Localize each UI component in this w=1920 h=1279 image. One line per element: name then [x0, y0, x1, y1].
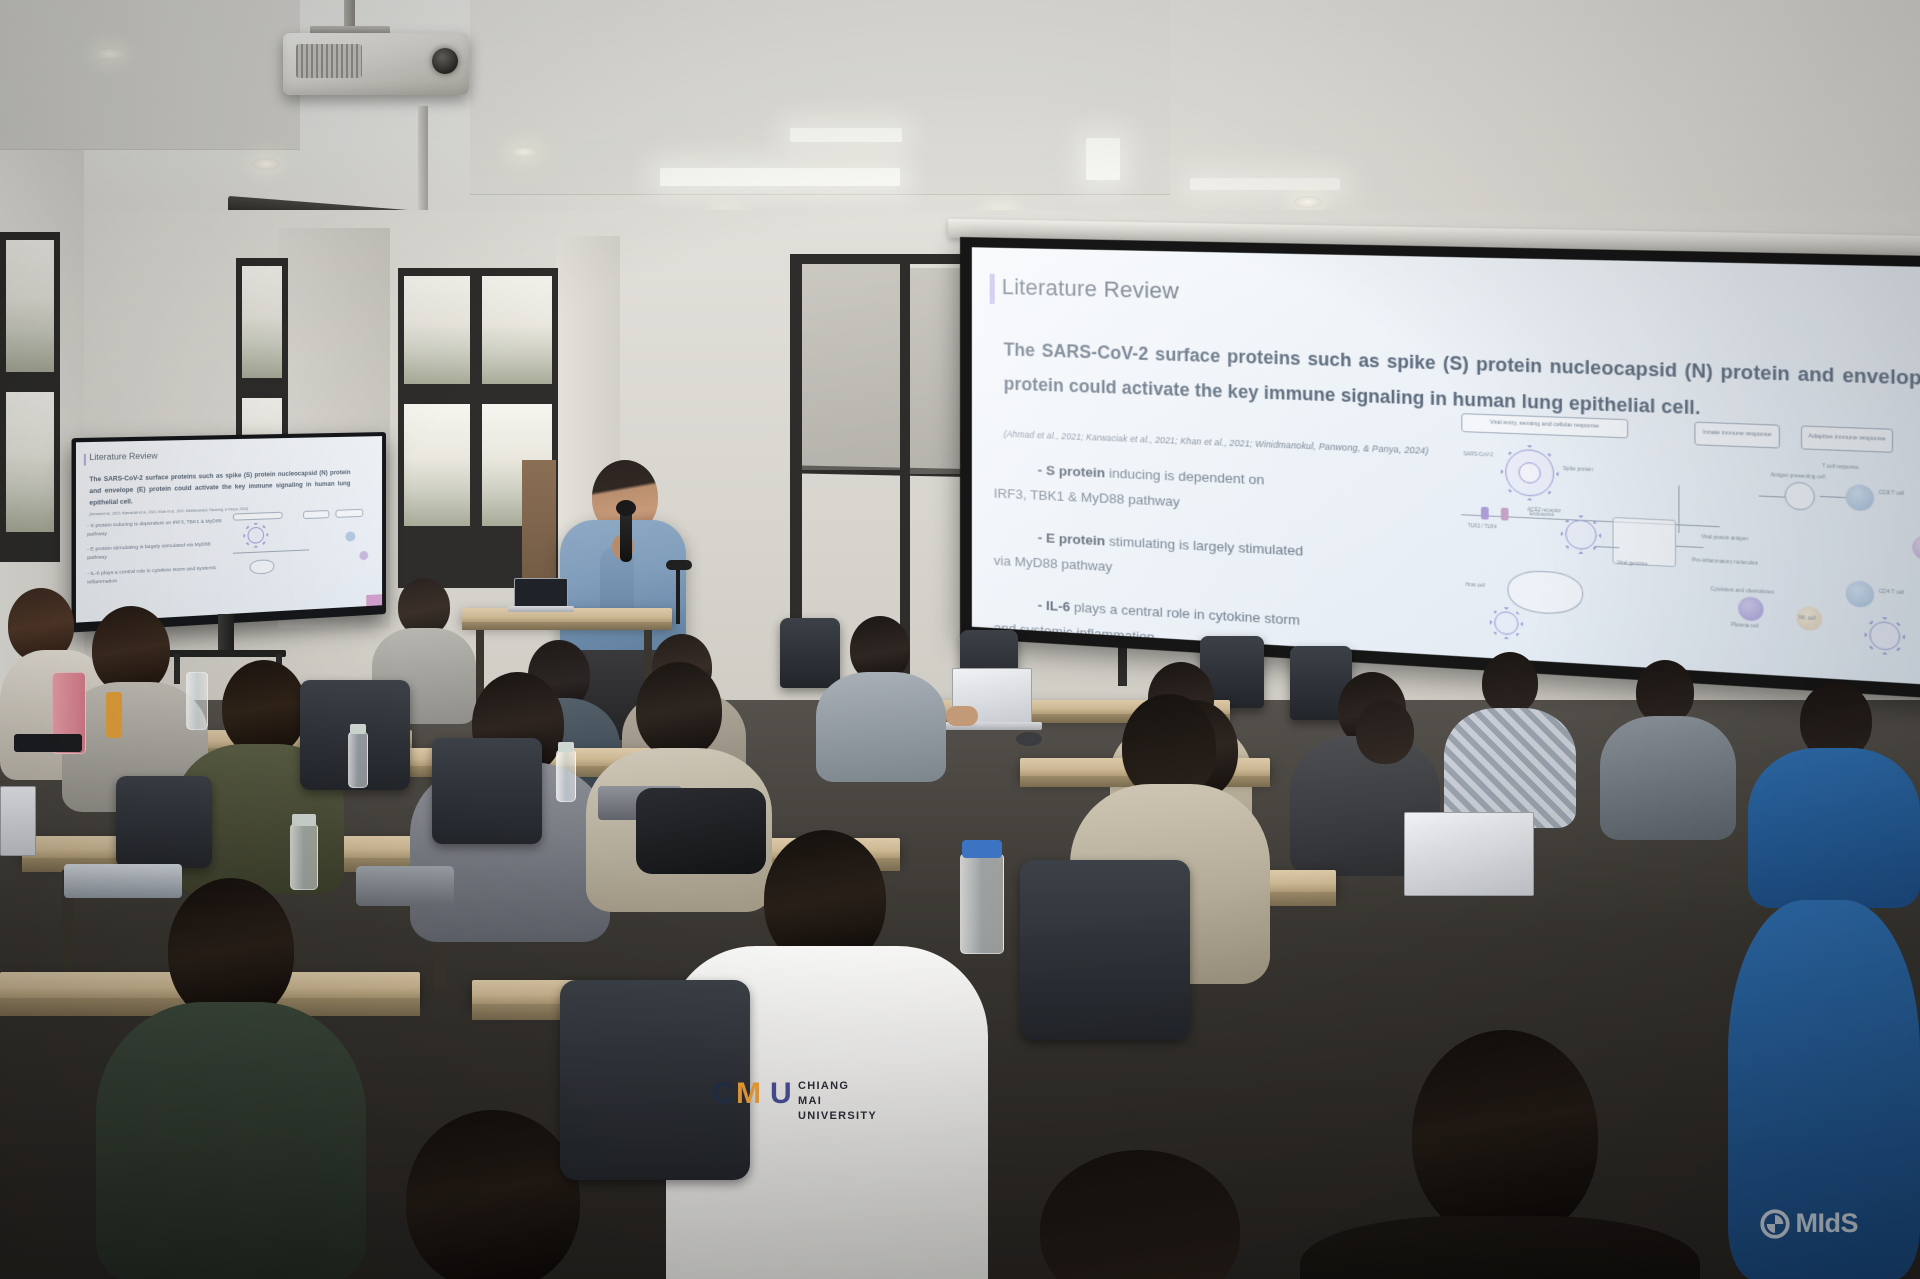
audience-head-b5 — [636, 662, 722, 758]
water-bottle-5 — [186, 672, 208, 730]
lunch-box-2 — [356, 866, 454, 906]
downlight-3 — [510, 146, 538, 158]
bullet-3-rest: plays a central role in cytokine storm — [1070, 599, 1300, 628]
bullet-1-lead: - S protein — [1038, 462, 1105, 480]
audience-torso-a4 — [816, 672, 946, 782]
audience-head-a7 — [1356, 700, 1414, 764]
diagram-bcell — [1912, 535, 1920, 560]
edge-laptop — [1404, 812, 1534, 896]
foreground-chair-2 — [1020, 860, 1190, 1040]
mic-stand-head — [666, 560, 692, 570]
cmu-shirt-logo: C M U CHIANG MAI UNIVERSITY — [712, 1075, 872, 1117]
water-bottle-4 — [960, 854, 1004, 954]
tv-diagram-bcell — [359, 551, 368, 560]
diagram-label-sars: SARS-CoV-2 — [1463, 451, 1492, 458]
diagram-virion-2 — [1494, 611, 1518, 636]
mids-watermark: MIdS — [1760, 1208, 1859, 1239]
audience-head-b3 — [222, 660, 306, 756]
ceiling-recess-left — [0, 0, 300, 150]
audience-torso-a8 — [1444, 708, 1576, 828]
diagram-label-apc: Antigen presenting cell — [1771, 472, 1825, 481]
bullet-2-rest: stimulating is largely stimulated — [1105, 533, 1303, 558]
downlight-6 — [1294, 196, 1322, 208]
presentation-slide: Literature Review The SARS-CoV-2 surface… — [972, 247, 1920, 689]
phone-on-desk — [14, 734, 82, 752]
diagram-label-tcell-response: T cell response — [1822, 463, 1859, 471]
tv-bullet-list: - S protein inducing is dependent on IRF… — [87, 518, 227, 594]
audience-head-b2 — [92, 606, 170, 694]
tv-accent-bar — [84, 454, 86, 466]
cmu-wordmark: CHIANG MAI UNIVERSITY — [798, 1079, 877, 1124]
tv-slide-number-badge — [366, 594, 382, 606]
tablet-device — [64, 864, 182, 898]
slide-bullet-1: - S protein inducing is dependent on IRF… — [994, 456, 1453, 528]
window-glass-c2 — [482, 276, 552, 384]
diagram-label-proinflam: Pro-inflammatory molecules — [1692, 557, 1758, 567]
ceiling-recess-mid — [470, 0, 1170, 195]
diagram-label-antigen: Viral protein antigen — [1701, 534, 1748, 543]
ceiling-recess-right — [1170, 0, 1920, 225]
diagram-arrow-5 — [1678, 486, 1679, 533]
diagram-receptor-tlr — [1501, 508, 1509, 521]
water-bottle-1 — [348, 732, 368, 788]
immune-pathway-diagram: Viral entry, sensing and cellular respon… — [1461, 413, 1920, 668]
tv-bullet-2: - E protein stimulating is largely stimu… — [87, 541, 227, 564]
presenter-mic-head — [616, 500, 636, 516]
diagram-label-endosome: Endosome — [1530, 511, 1554, 518]
empty-chair-1 — [780, 618, 840, 688]
mids-label: MIdS — [1796, 1208, 1859, 1239]
lecture-hall-photo: VERTEX Literature Review The SARS-CoV-2 … — [0, 0, 1920, 1279]
water-bottle-3 — [290, 824, 318, 890]
window-glass-a2 — [6, 392, 54, 532]
diagram-arrow-2 — [1676, 546, 1703, 548]
mic-stand — [676, 566, 680, 624]
diagram-label-spike: Spike protein — [1563, 466, 1593, 474]
bullet-3-lead: - IL-6 — [1038, 597, 1070, 614]
foreground-head-c5 — [406, 1110, 580, 1279]
tv-screen: Literature Review The SARS-CoV-2 surface… — [76, 436, 382, 623]
tv-slide-heading: The SARS-CoV-2 surface proteins such as … — [89, 468, 350, 510]
diagram-plasma-cell — [1738, 596, 1764, 621]
tv-diagram-virion — [247, 527, 264, 544]
diagram-box-innate: Innate immune response — [1694, 422, 1780, 449]
wall-tv-monitor: Literature Review The SARS-CoV-2 surface… — [72, 432, 386, 632]
partition-glass-1 — [802, 264, 900, 470]
cmu-wordmark-line1: CHIANG MAI — [798, 1080, 849, 1107]
tv-diagram — [233, 508, 382, 588]
cmu-wordmark-line2: UNIVERSITY — [798, 1110, 877, 1122]
diagram-label-nk: NK cell — [1799, 615, 1816, 622]
window-glass-c1 — [404, 276, 470, 384]
aperture-icon — [1760, 1209, 1790, 1239]
diagram-receptor-ace2 — [1481, 507, 1489, 520]
diagram-host-cell — [1507, 569, 1583, 616]
audience-head-a8 — [1482, 652, 1538, 714]
presenter-table-edge — [462, 622, 672, 630]
bullet-1-rest: inducing is dependent on — [1105, 465, 1264, 487]
pen-holder — [106, 692, 122, 738]
foreground-head-c1 — [168, 878, 294, 1022]
ceiling-light-2 — [790, 128, 902, 142]
ceiling-pipe — [418, 106, 428, 224]
water-bottle-2-cap — [558, 742, 574, 752]
window-glass-c3 — [404, 404, 470, 526]
diagram-cd8-tcell — [1846, 484, 1874, 512]
ceiling-light-4 — [1190, 178, 1340, 190]
diagram-label-cytokines: Cytokines and chemokines — [1710, 586, 1774, 596]
water-bottle-4-cap — [962, 840, 1002, 858]
slide-title: Literature Review — [1002, 274, 1179, 305]
edge-laptop-2 — [0, 786, 36, 856]
laptop-mouse — [1016, 732, 1042, 746]
diagram-cd4-tcell — [1846, 580, 1874, 608]
tv-diagram-line — [233, 549, 309, 553]
tv-diagram-tcell — [345, 531, 355, 541]
slide-accent-bar — [990, 274, 995, 304]
diagram-arrow-4 — [1820, 496, 1846, 498]
tv-diagram-box-1 — [233, 512, 283, 521]
diagram-box-adaptive: Adaptive immune response — [1801, 425, 1893, 453]
downlight-2 — [252, 158, 280, 170]
pointing-hand — [946, 706, 978, 726]
water-bottle-2 — [556, 750, 576, 802]
backpack — [636, 788, 766, 874]
ceiling-light-3 — [1086, 138, 1120, 180]
tv-diagram-box-3 — [335, 509, 363, 518]
bullet-2-lead: - E protein — [1038, 530, 1105, 549]
foreground-torso-c1 — [96, 1002, 366, 1279]
diagram-arrow-3 — [1759, 495, 1785, 497]
tv-stand-pole — [218, 614, 234, 652]
diagram-label-plasma: Plasma cell — [1731, 622, 1758, 630]
bullet-1-cont: IRF3, TBK1 & MyD88 pathway — [994, 486, 1180, 510]
tv-bullet-1: - S protein inducing is dependent on IRF… — [87, 518, 227, 540]
projector-lens — [432, 48, 458, 74]
tv-slide-title: Literature Review — [89, 451, 157, 462]
cmu-letter-c: C — [712, 1077, 733, 1111]
projector-vent — [296, 44, 362, 78]
ceiling-light-1 — [660, 168, 900, 186]
diagram-label-host-cell: Host cell — [1466, 582, 1485, 589]
cmu-letter-m: M — [736, 1077, 760, 1111]
slide-bullet-2: - E protein stimulating is largely stimu… — [994, 524, 1453, 599]
audience-head-a9 — [1636, 660, 1694, 724]
partition-frame-top — [790, 254, 970, 264]
diagram-label-genome: Viral genome — [1617, 560, 1648, 568]
diagram-apc — [1785, 481, 1815, 511]
foreground-chair-4 — [432, 738, 542, 844]
window-glass-b — [242, 266, 282, 378]
bullet-2-cont: via MyD88 pathway — [994, 553, 1113, 574]
water-bottle-3-cap — [292, 814, 316, 826]
diagram-label-cd8: CD8 T cell — [1879, 490, 1904, 498]
projection-screen: VERTEX Literature Review The SARS-CoV-2 … — [960, 237, 1920, 703]
presenter-laptop-base — [508, 606, 574, 612]
tv-bullet-3: - IL-6 plays a central role in cytokine … — [87, 564, 227, 588]
tv-stand-base — [168, 650, 286, 657]
cmu-letter-u: U — [770, 1077, 791, 1111]
tv-diagram-cell — [250, 559, 275, 575]
diagram-label-tlr: TLR2 / TLR4 — [1468, 523, 1497, 531]
foreground-head-c4 — [1412, 1030, 1598, 1240]
water-bottle-1-cap — [350, 724, 366, 734]
foreground-chair-5 — [116, 776, 212, 868]
downlight-1 — [96, 48, 124, 60]
diagram-virion-core — [1519, 462, 1541, 484]
audience-torso-a10 — [1748, 748, 1920, 908]
window-glass-a — [6, 240, 54, 372]
diagram-label-cd4: CD4 T cell — [1879, 588, 1904, 596]
tv-stand-leg-left — [174, 654, 180, 684]
diagram-endosome — [1565, 519, 1596, 550]
diagram-virion-3 — [1869, 621, 1900, 651]
diagram-arrow-1 — [1594, 546, 1619, 548]
partition-mullion-1 — [790, 254, 802, 674]
tv-diagram-box-2 — [303, 510, 329, 519]
audience-torso-a9 — [1600, 716, 1736, 840]
